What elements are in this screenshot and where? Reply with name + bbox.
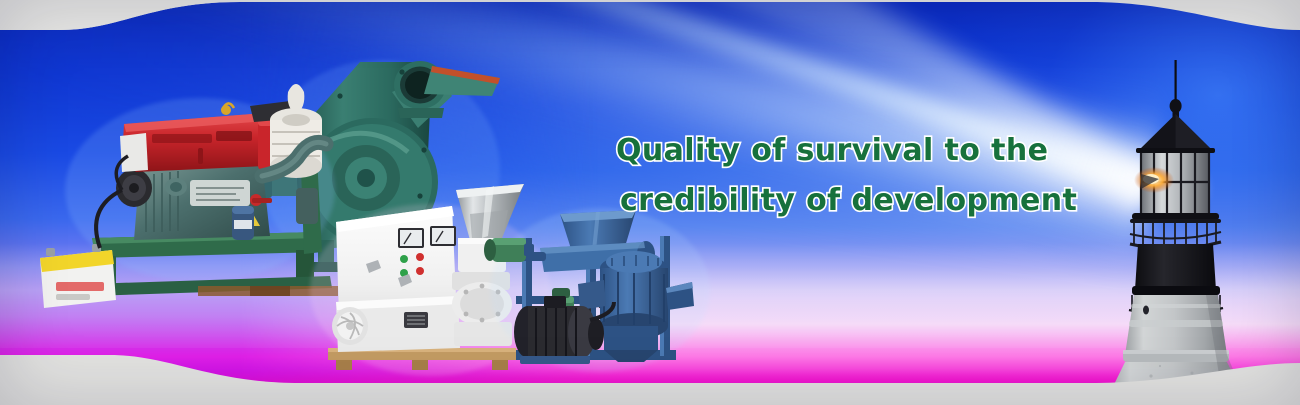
- gallery-railing: [1130, 213, 1221, 249]
- battery: [40, 244, 116, 308]
- tagline-line-1: Quality of survival to the: [616, 126, 1086, 176]
- tagline-line-2: credibility of development: [616, 176, 1086, 226]
- oil-filter: [232, 206, 254, 240]
- promotional-banner: Quality of survival to the credibility o…: [0, 0, 1300, 405]
- spire-finial: [1170, 60, 1182, 117]
- diesel-engine: [40, 84, 338, 308]
- fuel-tank: [120, 114, 294, 172]
- bottom-wave-divider: [0, 343, 1300, 405]
- tower-window: [1143, 306, 1149, 315]
- top-wave-divider: [0, 0, 1300, 58]
- tagline: Quality of survival to the credibility o…: [616, 126, 1086, 226]
- lantern-room-glass: [1134, 153, 1210, 215]
